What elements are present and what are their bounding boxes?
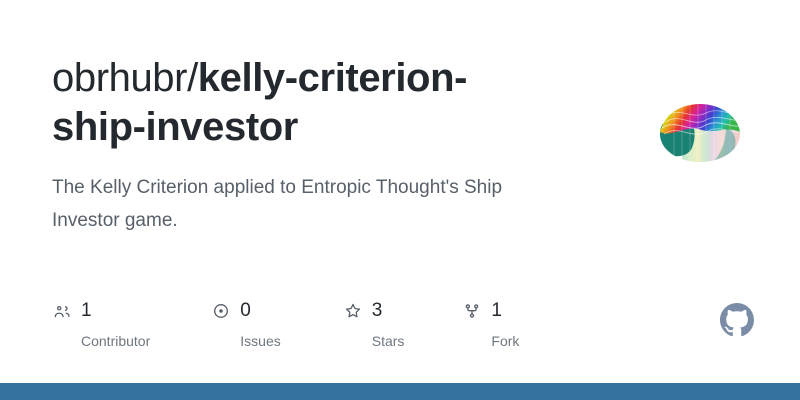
repository-avatar bbox=[652, 82, 748, 178]
stat-forks-label: Fork bbox=[491, 333, 519, 349]
stat-forks-top: 1 bbox=[462, 298, 519, 324]
repository-stats: 1 Contributor 0 Issues bbox=[52, 298, 748, 349]
stat-contributors-top: 1 bbox=[52, 298, 150, 324]
stat-stars-value: 3 bbox=[372, 300, 383, 322]
stat-contributors: 1 Contributor bbox=[52, 298, 150, 349]
repository-social-preview-card: obrhubr/kelly-criterion-ship-investor bbox=[0, 0, 800, 400]
stat-stars: 3 Stars bbox=[343, 298, 405, 349]
stat-forks: 1 Fork bbox=[462, 298, 519, 349]
fork-icon bbox=[462, 301, 482, 321]
repository-owner: obrhubr/ bbox=[52, 56, 198, 100]
card-header: obrhubr/kelly-criterion-ship-investor bbox=[52, 54, 748, 178]
stat-stars-label: Stars bbox=[372, 333, 405, 349]
stat-stars-top: 3 bbox=[343, 298, 405, 324]
stat-issues: 0 Issues bbox=[211, 298, 280, 349]
issue-opened-icon bbox=[211, 301, 231, 321]
accent-bar bbox=[0, 383, 800, 400]
stat-contributors-label: Contributor bbox=[81, 333, 150, 349]
stat-issues-top: 0 bbox=[211, 298, 280, 324]
stat-contributors-value: 1 bbox=[81, 300, 92, 322]
github-logo-icon bbox=[720, 303, 754, 337]
stat-forks-value: 1 bbox=[491, 300, 502, 322]
stat-issues-label: Issues bbox=[240, 333, 280, 349]
stat-issues-value: 0 bbox=[240, 300, 251, 322]
people-icon bbox=[52, 301, 72, 321]
repository-description: The Kelly Criterion applied to Entropic … bbox=[52, 172, 572, 237]
page-title: obrhubr/kelly-criterion-ship-investor bbox=[52, 54, 552, 152]
star-icon bbox=[343, 301, 363, 321]
